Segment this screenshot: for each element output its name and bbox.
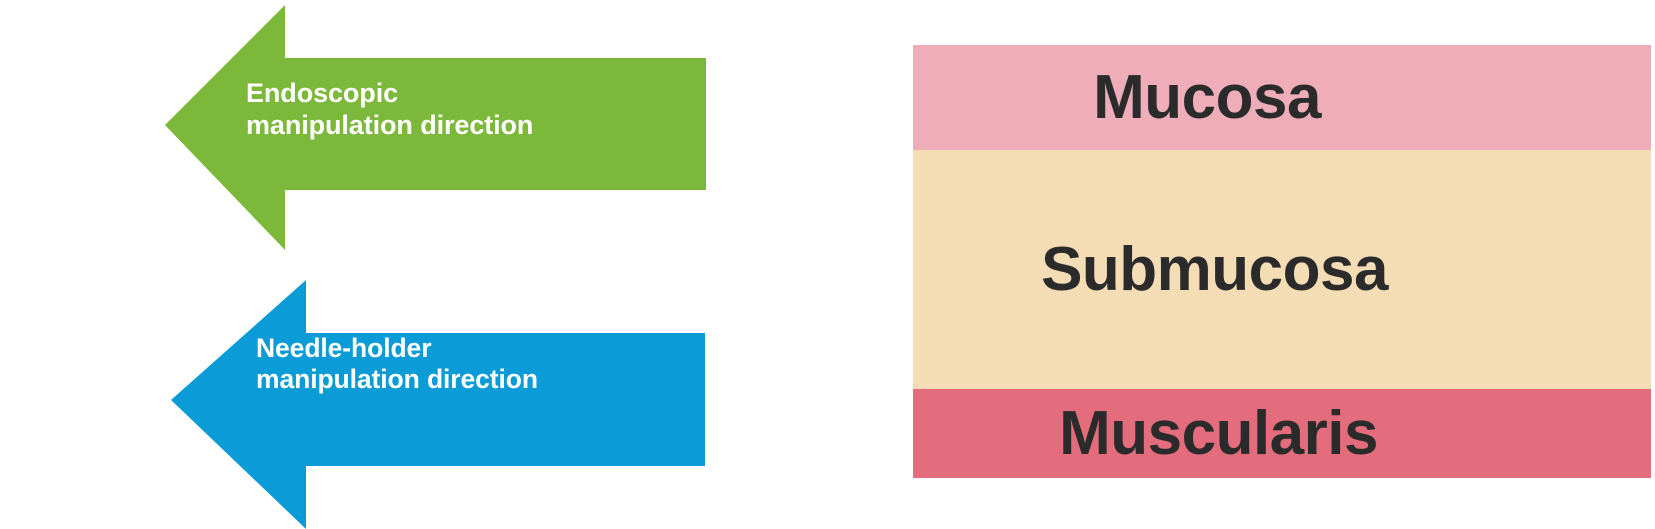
needle-holder-arrow-label: Needle-holdermanipulation direction: [256, 333, 538, 396]
tissue-layer-submucosa-label: Submucosa: [1041, 239, 1388, 301]
needle-holder-arrow-label-line1: Needle-holder: [256, 333, 431, 363]
tissue-layer-muscularis-label: Muscularis: [1059, 403, 1378, 465]
needle-holder-arrow-label-line2: manipulation direction: [256, 364, 538, 394]
endoscopic-arrow-label-line2: manipulation direction: [246, 110, 533, 140]
manipulation-direction-arrows: Endoscopicmanipulation direction Needle-…: [0, 0, 760, 529]
endoscopic-manipulation-arrow: Endoscopicmanipulation direction: [160, 0, 710, 255]
tissue-layer-muscularis: Muscularis: [913, 389, 1651, 478]
tissue-layer-mucosa-label: Mucosa: [1093, 67, 1321, 129]
figure-canvas: Endoscopicmanipulation direction Needle-…: [0, 0, 1655, 529]
left-arrow-icon: [165, 275, 710, 529]
endoscopic-arrow-label-line1: Endoscopic: [246, 78, 398, 108]
tissue-layer-stack: Mucosa Submucosa Muscularis: [913, 45, 1651, 478]
needle-holder-manipulation-arrow: Needle-holdermanipulation direction: [165, 275, 710, 529]
endoscopic-arrow-label: Endoscopicmanipulation direction: [246, 78, 533, 142]
tissue-layer-mucosa: Mucosa: [913, 45, 1651, 150]
tissue-layer-submucosa: Submucosa: [913, 150, 1651, 389]
